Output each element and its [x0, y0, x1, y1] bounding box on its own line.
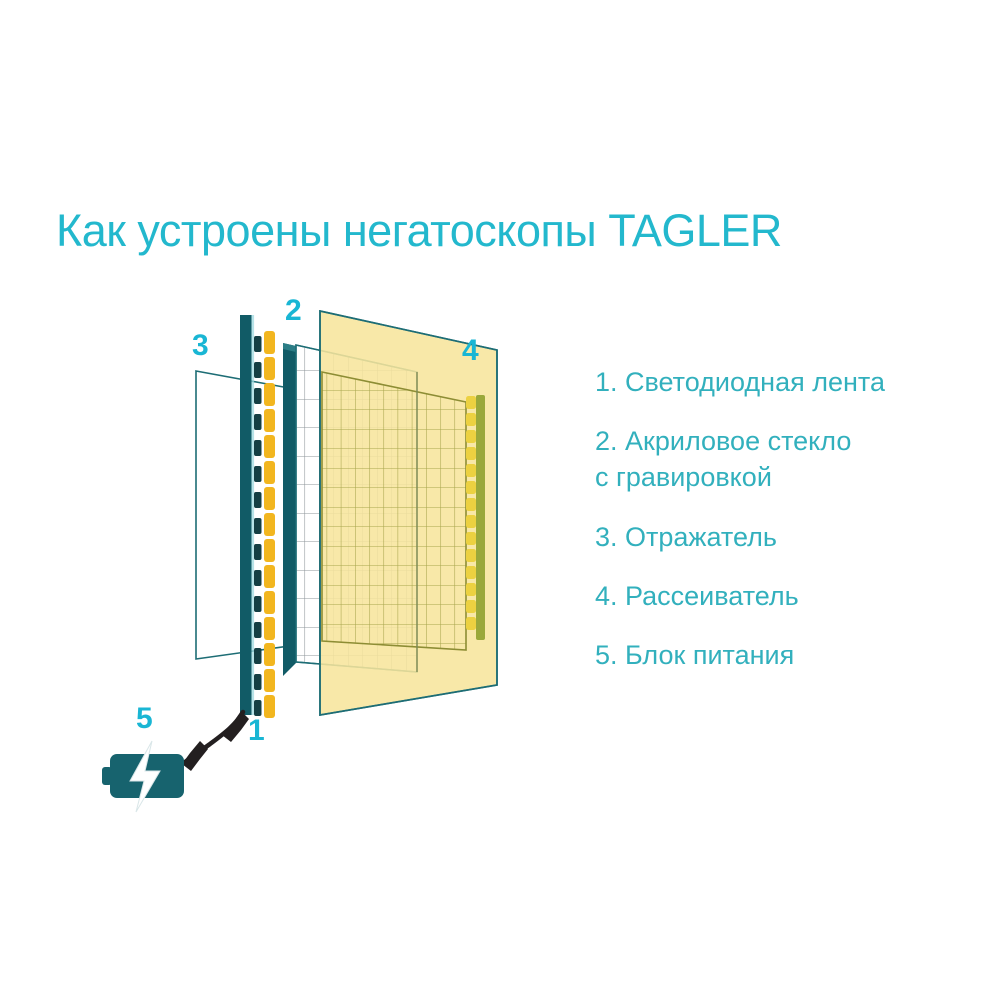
battery-terminal — [102, 767, 112, 785]
page-root: Как устроены негатоскопы TAGLER — [0, 0, 1000, 1000]
led-strip-bar — [240, 315, 252, 715]
diffuser-layer — [315, 311, 497, 715]
legend-item-2: 2. Акриловое стекло с гравировкой — [595, 423, 985, 495]
legend-item-5: 5. Блок питания — [595, 637, 985, 673]
lightning-bolt-icon — [130, 741, 160, 812]
legend-item-3: 3. Отражатель — [595, 519, 985, 555]
diffuser-seen-engraving-grid — [315, 365, 480, 660]
led-strip-right-bar — [476, 395, 485, 640]
led-diode-carriers — [254, 336, 262, 716]
cable-connector-upper — [222, 711, 249, 742]
led-strip-right — [466, 395, 485, 640]
label-2-acrylic-glass: 2 — [285, 294, 302, 327]
led-chips — [264, 331, 275, 718]
legend-item-4: 4. Рассеиватель — [595, 578, 985, 614]
label-4-diffuser: 4 — [462, 334, 479, 367]
led-strip-highlight — [252, 315, 255, 715]
label-1-led-strip: 1 — [248, 714, 265, 747]
legend-list: 1. Светодиодная лента 2. Акриловое стекл… — [595, 364, 985, 673]
legend-item-1: 1. Светодиодная лента — [595, 364, 985, 400]
label-3-reflector: 3 — [192, 329, 209, 362]
acrylic-glass-edge — [283, 343, 296, 676]
label-5-power-supply: 5 — [136, 702, 153, 735]
power-supply-group — [102, 711, 249, 812]
